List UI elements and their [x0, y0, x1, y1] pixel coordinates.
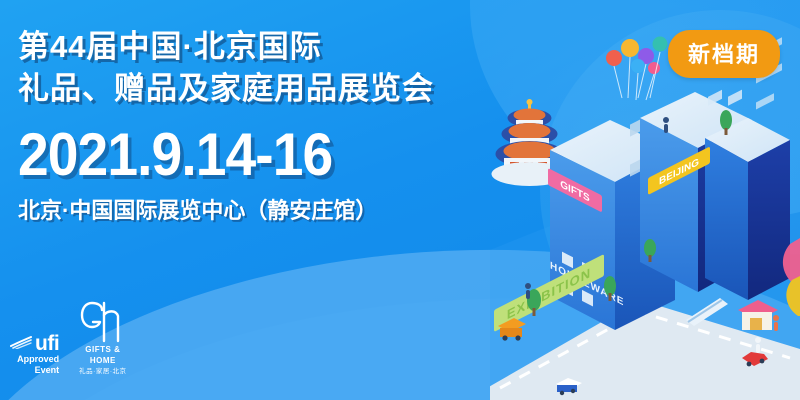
ufi-swoosh-icon	[10, 333, 32, 354]
headline-block: 第44届中国·北京国际 礼品、赠品及家庭用品展览会 2021.9.14-16 北…	[18, 26, 538, 226]
ufi-wordmark: ufi	[35, 334, 59, 354]
ufi-approved-line: Approved	[10, 354, 59, 365]
gh-english-line-1: GIFTS &	[85, 345, 120, 354]
event-date: 2021.9.14-16	[18, 124, 496, 186]
gh-english-line-2: HOME	[90, 356, 116, 365]
event-venue: 北京·中国国际展览中心（静安庄馆）	[18, 196, 538, 226]
title-line-2: 礼品、赠品及家庭用品展览会	[18, 68, 538, 110]
ufi-logo: ufi Approved Event	[10, 333, 59, 376]
gh-monogram-icon	[80, 301, 126, 343]
status-badge[interactable]: 新档期	[668, 30, 780, 78]
gifts-home-logo: GIFTS & HOME 礼品·家居·北京	[79, 301, 126, 376]
gh-chinese-line: 礼品·家居·北京	[79, 367, 126, 376]
logo-row: ufi Approved Event GIFTS & HOME 礼品·家居·北京	[10, 301, 127, 376]
ufi-event-line: Event	[10, 365, 59, 376]
promo-banner: GIFTS BEIJING HOUSEWARE EXHIBITION	[0, 0, 800, 400]
title-line-1: 第44届中国·北京国际	[18, 26, 538, 68]
balloons-icon	[606, 37, 668, 101]
